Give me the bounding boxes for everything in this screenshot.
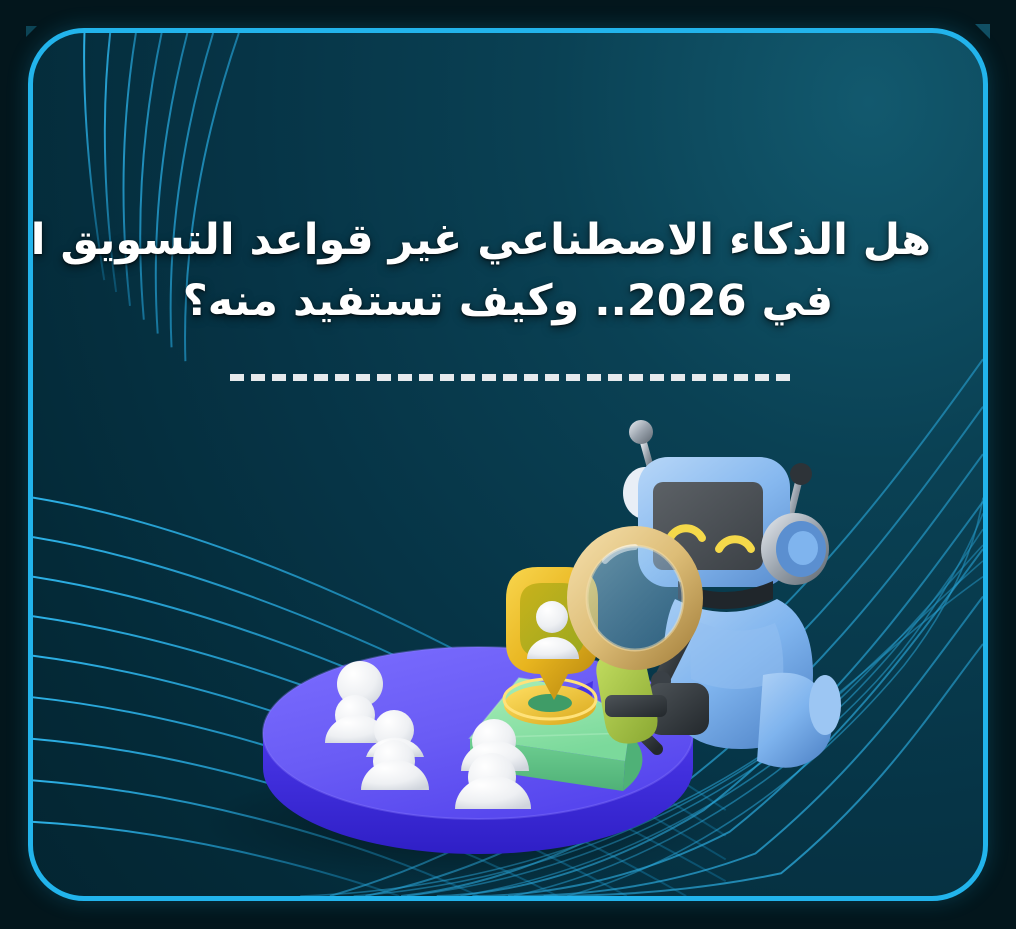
illustration-svg [33, 33, 983, 896]
banner-frame: هل الذكاء الاصطناعي غير قواعد التسويق ال… [28, 28, 988, 901]
illustration [33, 33, 983, 896]
banner-frame-inner: هل الذكاء الاصطناعي غير قواعد التسويق ال… [33, 33, 983, 896]
magnifier-grip [605, 695, 667, 717]
robot-ear-dial [761, 513, 829, 585]
banner-canvas: هل الذكاء الاصطناعي غير قواعد التسويق ال… [0, 0, 1016, 929]
robot-arm-right [757, 673, 841, 768]
